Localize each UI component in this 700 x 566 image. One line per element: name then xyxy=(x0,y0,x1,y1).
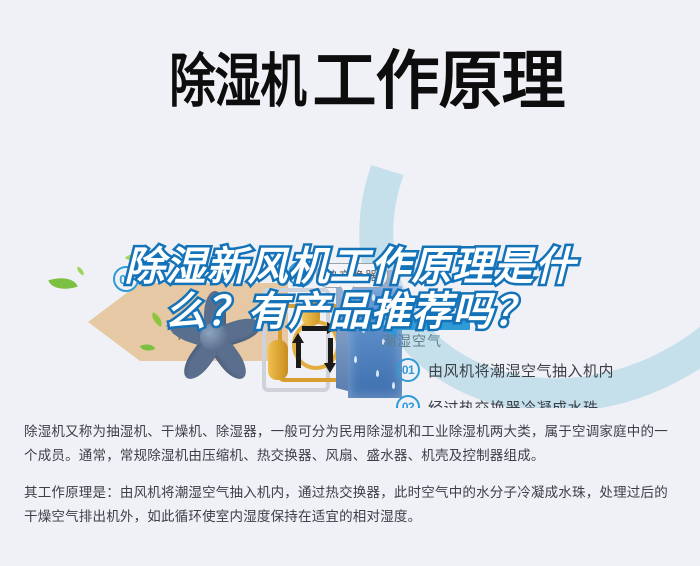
leaf-icon xyxy=(48,272,77,294)
legend-text-02: 经过热交换器冷凝成水珠 xyxy=(428,397,599,409)
condensation-droplet xyxy=(356,300,359,307)
dehumidifier-diagram: 干燥空气 xyxy=(0,118,700,408)
condensation-droplet xyxy=(392,382,395,389)
body-paragraph-1: 除湿机又称为抽湿机、干燥机、除湿器，一般可分为民用除湿机和工业除湿机两大类，属于… xyxy=(24,420,676,468)
callout-tail-icon xyxy=(340,285,354,297)
body-paragraph-2: 其工作原理是：由风机将潮湿空气抽入机内，通过热交换器，此时空气中的水分子冷凝成水… xyxy=(24,481,676,529)
condensation-droplet xyxy=(354,356,357,363)
marker-02: 02 xyxy=(288,261,314,287)
legend-marker-01: 01 xyxy=(396,358,420,382)
flow-arrow-up-icon xyxy=(296,342,301,368)
process-legend: 01 由风机将潮湿空气抽入机内 02 经过热交换器冷凝成水珠 03 从上部出风口… xyxy=(396,358,696,408)
page-title-part2: 工作原理 xyxy=(313,30,565,122)
band-fade-mask xyxy=(600,118,700,248)
flow-arrow-right-icon xyxy=(302,326,328,331)
page-title: 除湿机工作原理 xyxy=(0,30,700,122)
page-root: 除湿机工作原理 干燥空气 xyxy=(0,0,700,566)
marker-01: 01 xyxy=(375,302,401,328)
fan-icon xyxy=(160,283,268,391)
condensation-droplet xyxy=(362,326,365,333)
legend-text-01: 由风机将潮湿空气抽入机内 xyxy=(428,360,614,381)
intake-arrow-icon xyxy=(396,318,470,330)
condensation-droplet xyxy=(372,294,375,301)
compressor-cylinder-small xyxy=(302,300,320,326)
article-body: 除湿机又称为抽湿机、干燥机、除湿器，一般可分为民用除湿机和工业除湿机两大类，属于… xyxy=(24,420,676,542)
marker-03: 03 xyxy=(113,266,139,292)
condensation-droplet xyxy=(376,370,379,377)
compressor-cylinder xyxy=(268,340,288,380)
leaf-icon xyxy=(125,250,139,264)
legend-row: 02 经过热交换器冷凝成水珠 xyxy=(396,395,696,408)
fan-hub xyxy=(200,323,228,351)
page-title-part1: 除湿机 xyxy=(170,34,307,118)
legend-row: 01 由风机将潮湿空气抽入机内 xyxy=(396,358,696,382)
leaf-icon xyxy=(75,266,86,275)
humid-air-label: 潮湿空气 xyxy=(382,331,442,351)
legend-marker-02: 02 xyxy=(396,395,420,408)
flow-arrow-down-icon xyxy=(328,338,333,364)
